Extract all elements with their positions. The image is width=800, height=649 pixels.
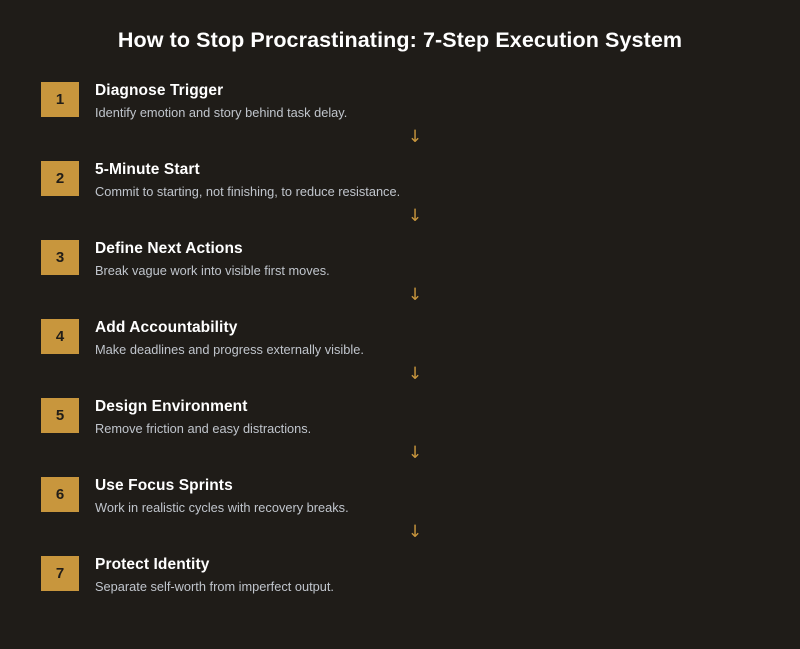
step-title: Add Accountability (95, 319, 364, 337)
step-description: Work in realistic cycles with recovery b… (95, 500, 349, 516)
step-description: Remove friction and easy distractions. (95, 421, 311, 437)
step-list: 1 Diagnose Trigger Identify emotion and … (41, 82, 759, 600)
step-description: Identify emotion and story behind task d… (95, 105, 347, 121)
step-connector: ↓ (41, 521, 759, 556)
step-description: Make deadlines and progress externally v… (95, 342, 364, 358)
list-item: 4 Add Accountability Make deadlines and … (41, 319, 759, 363)
step-description: Break vague work into visible first move… (95, 263, 330, 279)
arrow-down-icon: ↓ (406, 286, 424, 304)
arrow-down-icon: ↓ (406, 365, 424, 383)
step-connector: ↓ (41, 442, 759, 477)
list-item: 5 Design Environment Remove friction and… (41, 398, 759, 442)
arrow-down-icon: ↓ (406, 207, 424, 225)
step-text-block: Protect Identity Separate self-worth fro… (95, 556, 334, 595)
step-text-block: Add Accountability Make deadlines and pr… (95, 319, 364, 358)
step-connector: ↓ (41, 284, 759, 319)
step-title: Use Focus Sprints (95, 477, 349, 495)
step-text-block: 5-Minute Start Commit to starting, not f… (95, 161, 400, 200)
step-text-block: Define Next Actions Break vague work int… (95, 240, 330, 279)
step-connector: ↓ (41, 205, 759, 240)
step-title: 5-Minute Start (95, 161, 400, 179)
step-number-badge: 1 (41, 82, 79, 117)
list-item: 1 Diagnose Trigger Identify emotion and … (41, 82, 759, 126)
step-number-badge: 4 (41, 319, 79, 354)
step-number-badge: 5 (41, 398, 79, 433)
step-connector: ↓ (41, 126, 759, 161)
step-title: Define Next Actions (95, 240, 330, 258)
infographic-canvas: How to Stop Procrastinating: 7-Step Exec… (0, 0, 800, 649)
step-text-block: Diagnose Trigger Identify emotion and st… (95, 82, 347, 121)
step-title: Design Environment (95, 398, 311, 416)
step-number-badge: 3 (41, 240, 79, 275)
arrow-down-icon: ↓ (406, 128, 424, 146)
step-number-badge: 6 (41, 477, 79, 512)
arrow-down-icon: ↓ (406, 444, 424, 462)
list-item: 3 Define Next Actions Break vague work i… (41, 240, 759, 284)
step-number-badge: 2 (41, 161, 79, 196)
step-text-block: Use Focus Sprints Work in realistic cycl… (95, 477, 349, 516)
arrow-down-icon: ↓ (406, 523, 424, 541)
list-item: 7 Protect Identity Separate self-worth f… (41, 556, 759, 600)
step-title: Diagnose Trigger (95, 82, 347, 100)
page-title: How to Stop Procrastinating: 7-Step Exec… (0, 28, 800, 53)
step-text-block: Design Environment Remove friction and e… (95, 398, 311, 437)
step-connector: ↓ (41, 363, 759, 398)
step-description: Commit to starting, not finishing, to re… (95, 184, 400, 200)
list-item: 2 5-Minute Start Commit to starting, not… (41, 161, 759, 205)
step-title: Protect Identity (95, 556, 334, 574)
list-item: 6 Use Focus Sprints Work in realistic cy… (41, 477, 759, 521)
step-description: Separate self-worth from imperfect outpu… (95, 579, 334, 595)
step-number-badge: 7 (41, 556, 79, 591)
